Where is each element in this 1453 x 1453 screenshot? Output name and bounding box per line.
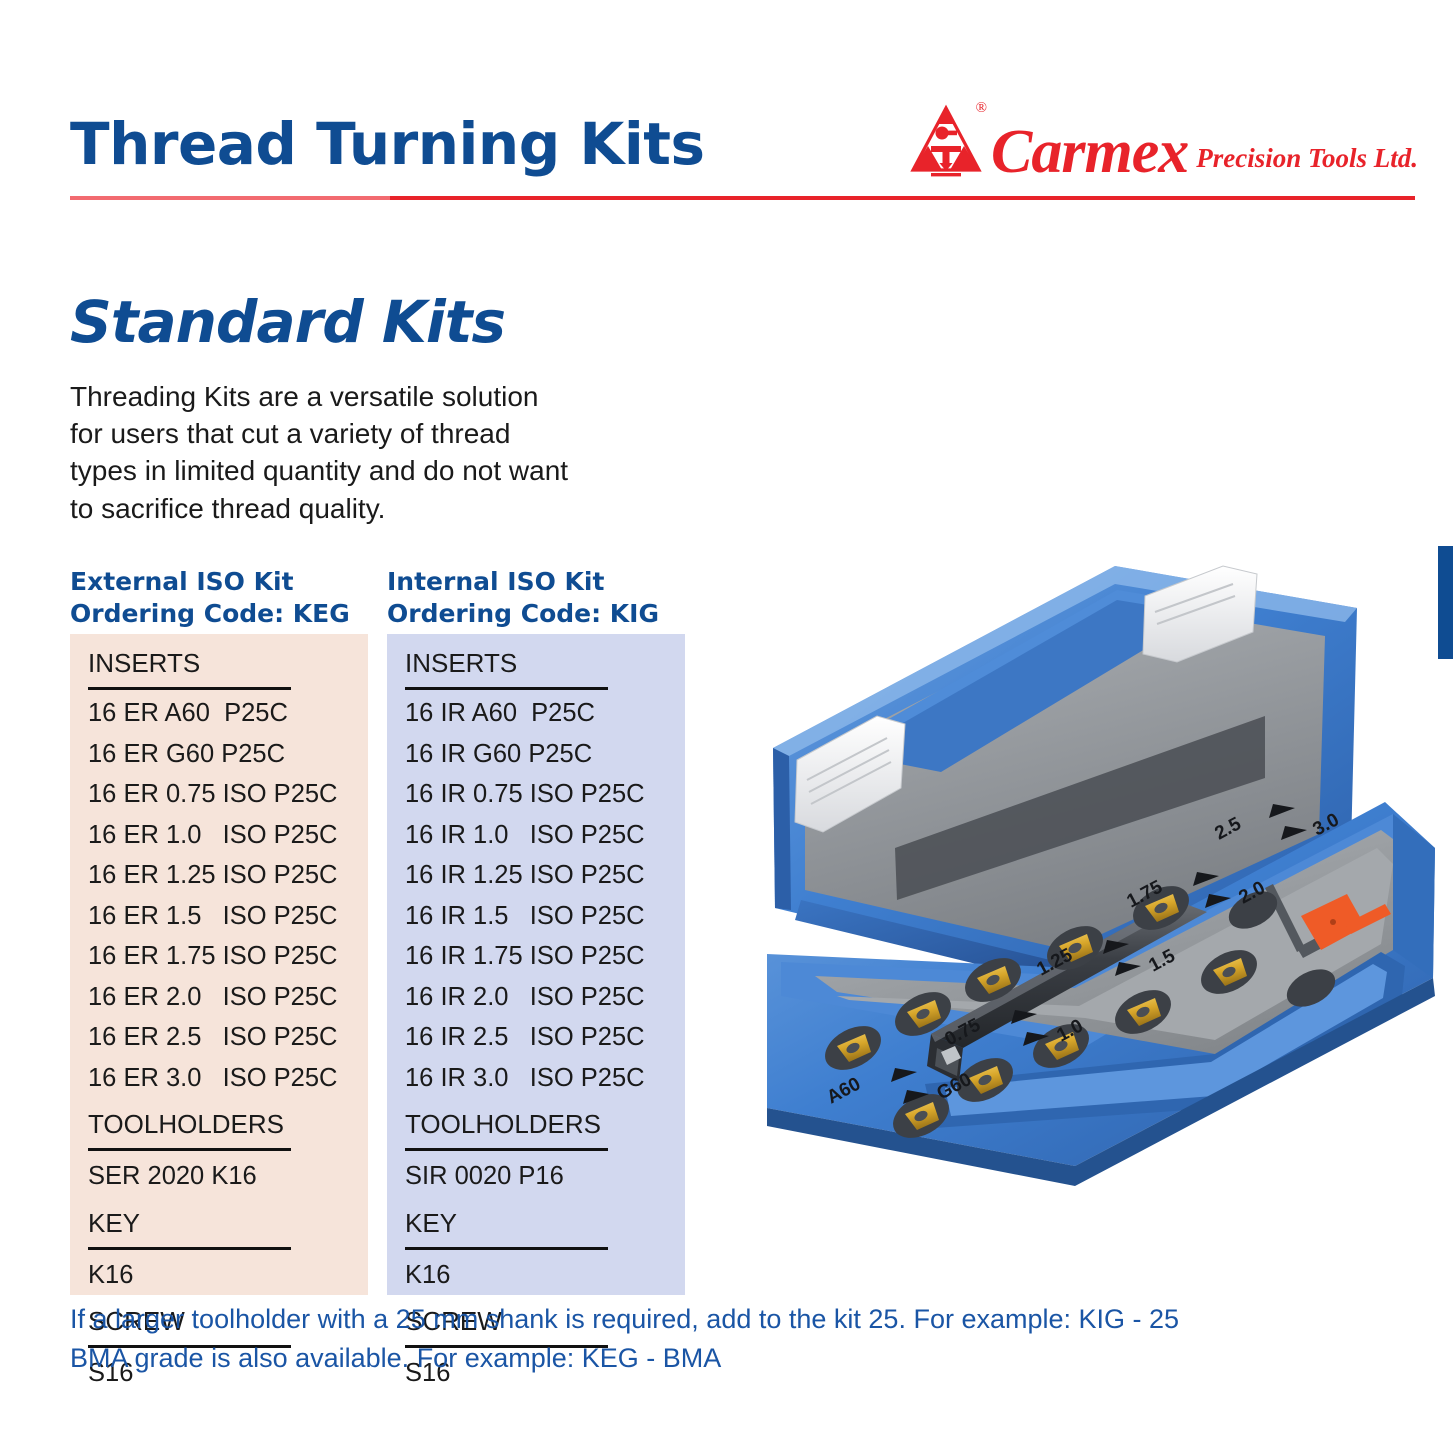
insert-list: 16 IR A60 P25C 16 IR G60 P25C 16 IR 0.75… bbox=[405, 701, 667, 1091]
list-item: 16 IR 0.75 ISO P25C bbox=[405, 782, 667, 808]
kit-heading-line: External ISO Kit bbox=[70, 566, 350, 598]
group-label: KEY bbox=[405, 1210, 667, 1236]
group-divider bbox=[405, 687, 608, 690]
intro-line: to sacrifice thread quality. bbox=[70, 490, 630, 527]
toolholder-list: SER 2020 K16 bbox=[88, 1164, 350, 1190]
kit-heading-external: External ISO Kit Ordering Code: KEG bbox=[70, 566, 350, 630]
list-item: 16 IR 1.75 ISO P25C bbox=[405, 944, 667, 970]
group-divider bbox=[88, 687, 291, 690]
kit-ordering-code: Ordering Code: KEG bbox=[70, 598, 350, 630]
list-item: SIR 0020 P16 bbox=[405, 1164, 667, 1190]
footnote-line: BMA grade is also available. For example… bbox=[70, 1339, 1190, 1378]
list-item: K16 bbox=[405, 1263, 667, 1289]
list-item: 16 ER 1.75 ISO P25C bbox=[88, 944, 350, 970]
list-item: K16 bbox=[88, 1263, 350, 1289]
header-divider-accent bbox=[70, 196, 390, 200]
list-item: 16 ER 1.0 ISO P25C bbox=[88, 823, 350, 849]
list-item: 16 IR 1.0 ISO P25C bbox=[405, 823, 667, 849]
kit-group-inserts: INSERTS 16 ER A60 P25C 16 ER G60 P25C 16… bbox=[88, 650, 350, 1091]
kit-group-inserts: INSERTS 16 IR A60 P25C 16 IR G60 P25C 16… bbox=[405, 650, 667, 1091]
list-item: 16 ER 2.0 ISO P25C bbox=[88, 985, 350, 1011]
footnote-line: If a larger toolholder with a 25 mm shan… bbox=[70, 1300, 1190, 1339]
footnote: If a larger toolholder with a 25 mm shan… bbox=[70, 1300, 1190, 1378]
kit-panel-internal: INSERTS 16 IR A60 P25C 16 IR G60 P25C 16… bbox=[387, 634, 685, 1295]
carmex-logo: ® Carmex Precision Tools Ltd. bbox=[909, 100, 1418, 182]
group-divider bbox=[405, 1247, 608, 1250]
kit-heading-line: Internal ISO Kit bbox=[387, 566, 659, 598]
group-label: INSERTS bbox=[405, 650, 667, 676]
list-item: 16 IR A60 P25C bbox=[405, 701, 667, 727]
key-list: K16 bbox=[88, 1263, 350, 1289]
kit-ordering-code: Ordering Code: KIG bbox=[387, 598, 659, 630]
toolholder-list: SIR 0020 P16 bbox=[405, 1164, 667, 1190]
list-item: 16 IR 1.25 ISO P25C bbox=[405, 863, 667, 889]
list-item: 16 ER 3.0 ISO P25C bbox=[88, 1066, 350, 1092]
list-item: 16 ER G60 P25C bbox=[88, 742, 350, 768]
list-item: 16 ER 1.5 ISO P25C bbox=[88, 904, 350, 930]
registered-trademark-icon: ® bbox=[976, 100, 987, 117]
group-divider bbox=[88, 1148, 291, 1151]
kit-group-key: KEY K16 bbox=[405, 1210, 667, 1289]
product-photo-threading-kit-case: A60 G60 0.75 1.0 1.25 1.5 1.75 2.0 2.5 3… bbox=[745, 548, 1445, 1270]
kit-heading-internal: Internal ISO Kit Ordering Code: KIG bbox=[387, 566, 659, 630]
group-divider bbox=[88, 1247, 291, 1250]
list-item: 16 IR 2.5 ISO P25C bbox=[405, 1025, 667, 1051]
page-title: Thread Turning Kits bbox=[70, 110, 704, 178]
list-item: 16 ER 0.75 ISO P25C bbox=[88, 782, 350, 808]
list-item: 16 IR G60 P25C bbox=[405, 742, 667, 768]
kit-panel-external: INSERTS 16 ER A60 P25C 16 ER G60 P25C 16… bbox=[70, 634, 368, 1295]
kit-group-toolholders: TOOLHOLDERS SER 2020 K16 bbox=[88, 1111, 350, 1190]
logo-wordmark: Carmex bbox=[991, 123, 1188, 182]
list-item: 16 ER 1.25 ISO P25C bbox=[88, 863, 350, 889]
list-item: 16 IR 2.0 ISO P25C bbox=[405, 985, 667, 1011]
insert-list: 16 ER A60 P25C 16 ER G60 P25C 16 ER 0.75… bbox=[88, 701, 350, 1091]
group-label: KEY bbox=[88, 1210, 350, 1236]
group-label: INSERTS bbox=[88, 650, 350, 676]
intro-line: types in limited quantity and do not wan… bbox=[70, 452, 630, 489]
kit-group-toolholders: TOOLHOLDERS SIR 0020 P16 bbox=[405, 1111, 667, 1190]
intro-line: Threading Kits are a versatile solution bbox=[70, 378, 630, 415]
group-divider bbox=[405, 1148, 608, 1151]
section-title: Standard Kits bbox=[70, 288, 505, 356]
list-item: 16 IR 3.0 ISO P25C bbox=[405, 1066, 667, 1092]
section-intro: Threading Kits are a versatile solution … bbox=[70, 378, 630, 527]
key-list: K16 bbox=[405, 1263, 667, 1289]
list-item: SER 2020 K16 bbox=[88, 1164, 350, 1190]
kit-group-key: KEY K16 bbox=[88, 1210, 350, 1289]
group-label: TOOLHOLDERS bbox=[88, 1111, 350, 1137]
group-label: TOOLHOLDERS bbox=[405, 1111, 667, 1137]
logo-tagline: Precision Tools Ltd. bbox=[1196, 143, 1418, 182]
list-item: 16 ER A60 P25C bbox=[88, 701, 350, 727]
list-item: 16 ER 2.5 ISO P25C bbox=[88, 1025, 350, 1051]
carmex-triangle-logo-icon: ® bbox=[909, 100, 983, 182]
list-item: 16 IR 1.5 ISO P25C bbox=[405, 904, 667, 930]
intro-line: for users that cut a variety of thread bbox=[70, 415, 630, 452]
